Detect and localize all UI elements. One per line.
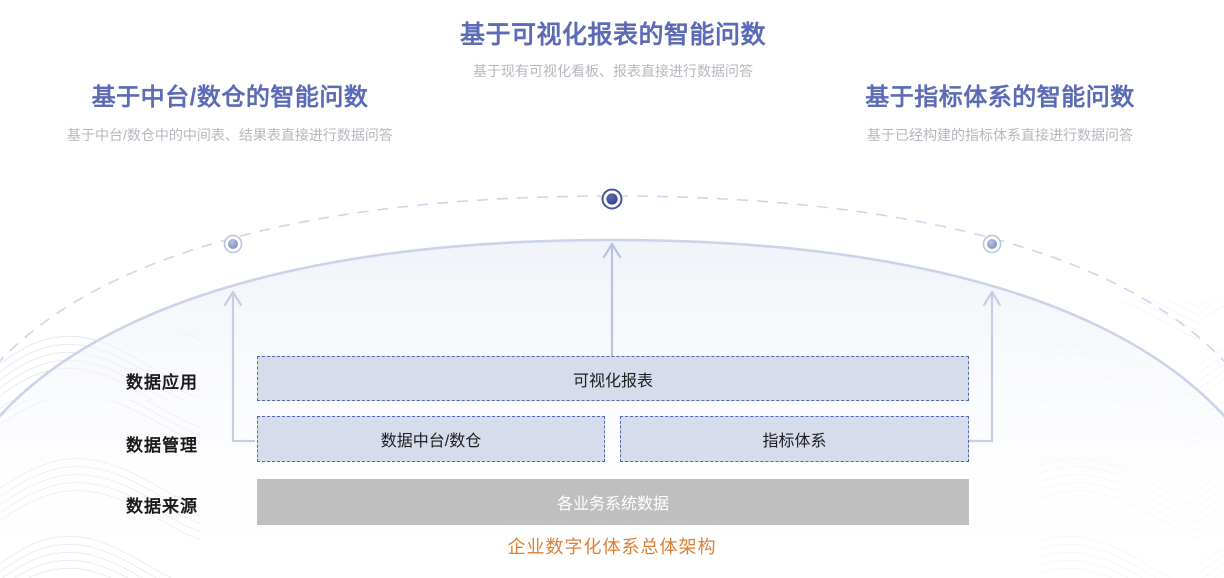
diagram-canvas: 基于中台/数仓的智能问数 基于中台/数仓中的中间表、结果表直接进行数据问答 基于… [0,0,1224,578]
architecture-diagram: 数据应用 数据管理 数据来源 可视化报表 数据中台/数仓 指标体系 各业务系统数… [0,0,1224,578]
arch-box-data-midplatform-warehouse[interactable]: 数据中台/数仓 [257,416,605,462]
architecture-caption: 企业数字化体系总体架构 [0,533,1224,559]
arch-box-metric-system[interactable]: 指标体系 [620,416,969,462]
row-label-data-source: 数据来源 [126,492,198,517]
arch-box-visualization-report[interactable]: 可视化报表 [257,356,969,401]
row-label-data-management: 数据管理 [126,431,198,456]
arch-box-business-system-data: 各业务系统数据 [257,479,969,525]
row-label-data-application: 数据应用 [126,368,198,393]
